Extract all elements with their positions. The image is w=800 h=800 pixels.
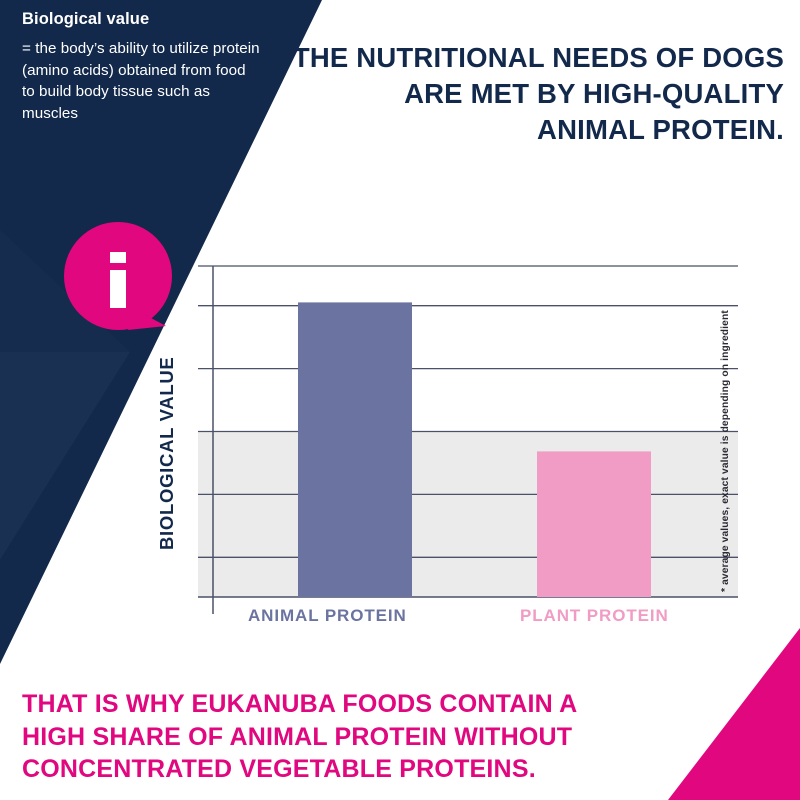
chart-footnote: * average values, exact value is dependi… (731, 330, 751, 592)
chart-y-axis-title: BIOLOGICAL VALUE (178, 300, 204, 550)
page-headline: THE NUTRITIONAL NEEDS OF DOGS ARE MET BY… (274, 40, 784, 147)
category-label-animal-protein: ANIMAL PROTEIN (248, 606, 407, 626)
bottom-statement-line-2: HIGH SHARE OF ANIMAL PROTEIN WITHOUT (22, 721, 662, 754)
headline-line-3: ANIMAL PROTEIN. (274, 112, 784, 148)
infographic-canvas: Biological value = the body’s ability to… (0, 0, 800, 800)
category-label-plant-protein: PLANT PROTEIN (520, 606, 669, 626)
bottom-statement: THAT IS WHY EUKANUBA FOODS CONTAIN A HIG… (22, 688, 662, 786)
info-bubble-icon (62, 222, 178, 340)
headline-line-1: THE NUTRITIONAL NEEDS OF DOGS (274, 40, 784, 76)
chart-shaded-band (198, 432, 738, 598)
bottom-statement-line-3: CONCENTRATED VEGETABLE PROTEINS. (22, 753, 662, 786)
biological-value-bar-chart (170, 262, 770, 640)
bottom-statement-line-1: THAT IS WHY EUKANUBA FOODS CONTAIN A (22, 688, 662, 721)
biological-value-definition-panel: Biological value = the body’s ability to… (22, 10, 260, 124)
y-axis-title-text: BIOLOGICAL VALUE (156, 357, 178, 550)
info-panel-body: = the body’s ability to utilize protein … (22, 38, 260, 124)
chart-category-labels: ANIMAL PROTEIN PLANT PROTEIN (170, 606, 770, 632)
bar-plant-protein (537, 451, 651, 597)
info-panel-title: Biological value (22, 10, 260, 29)
headline-line-2: ARE MET BY HIGH-QUALITY (274, 76, 784, 112)
footnote-text: * average values, exact value is dependi… (720, 310, 731, 592)
bar-animal-protein (298, 302, 412, 597)
